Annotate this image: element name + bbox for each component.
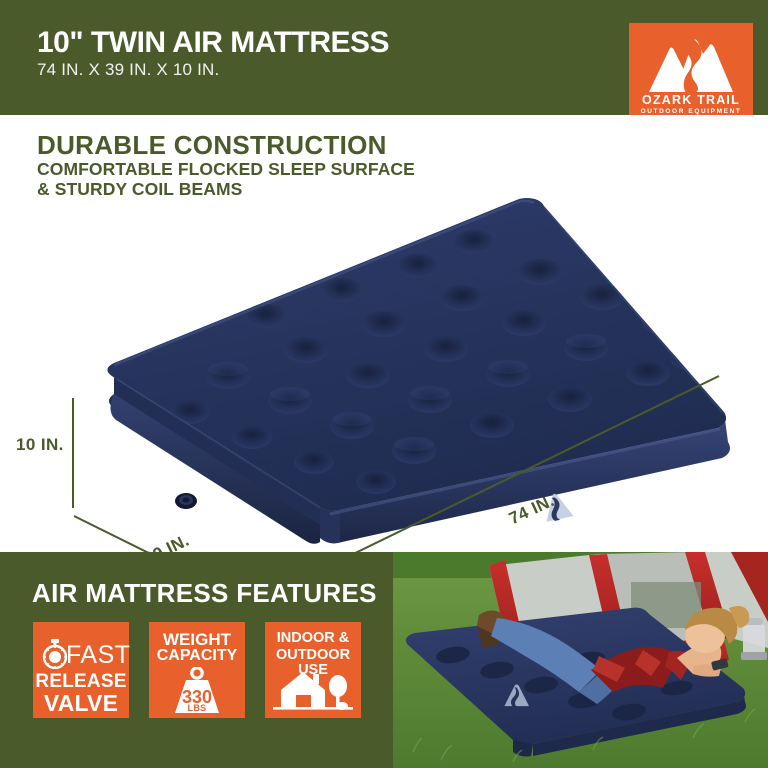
mountain-trail-icon — [645, 32, 737, 99]
section-heading: DURABLE CONSTRUCTION — [37, 130, 387, 161]
brand-logo: OZARK TRAIL OUTDOOR EQUIPMENT — [629, 23, 753, 128]
feature-tiles: FAST RELEASE VALVE WEIGHT CAPACITY 330 L… — [33, 622, 361, 718]
main-section: DURABLE CONSTRUCTION COMFORTABLE FLOCKED… — [0, 115, 768, 552]
product-infographic: 10" TWIN AIR MATTRESS 74 IN. X 39 IN. X … — [0, 0, 768, 768]
feature-label-line2: CAPACITY — [149, 648, 245, 665]
feature-label-line2: RELEASE — [33, 672, 129, 692]
section-subheading-line1: COMFORTABLE FLOCKED SLEEP SURFACE — [37, 159, 415, 180]
brand-tagline: OUTDOOR EQUIPMENT — [629, 108, 753, 115]
height-dimension-line — [72, 398, 74, 508]
dimension-label-height: 10 IN. — [16, 435, 64, 455]
features-title: AIR MATTRESS FEATURES — [32, 578, 377, 609]
feature-weight-unit: LBS — [149, 704, 245, 713]
feature-label-line3: VALVE — [33, 691, 129, 715]
house-tree-icon — [273, 666, 353, 714]
lifestyle-photo — [393, 552, 768, 768]
features-section: AIR MATTRESS FEATURES FAST — [0, 552, 768, 768]
page-title: 10" TWIN AIR MATTRESS — [37, 26, 389, 60]
feature-label-line1: FAST — [66, 642, 127, 668]
stopwatch-icon — [42, 639, 68, 669]
product-illustration: 10 IN. 39 IN. 74 IN. — [78, 180, 738, 550]
length-dimension-line — [333, 370, 733, 570]
feature-tile-indoor-outdoor-use[interactable]: INDOOR & OUTDOOR USE — [265, 622, 361, 718]
feature-tile-weight-capacity[interactable]: WEIGHT CAPACITY 330 LBS — [149, 622, 245, 718]
feature-label-line1: INDOOR & — [265, 631, 361, 646]
brand-name: OZARK TRAIL — [629, 93, 753, 107]
product-dimensions-subtitle: 74 IN. X 39 IN. X 10 IN. — [37, 60, 219, 80]
valve-icon — [175, 493, 197, 509]
header-band: 10" TWIN AIR MATTRESS 74 IN. X 39 IN. X … — [0, 0, 768, 115]
feature-tile-fast-release-valve[interactable]: FAST RELEASE VALVE — [33, 622, 129, 718]
